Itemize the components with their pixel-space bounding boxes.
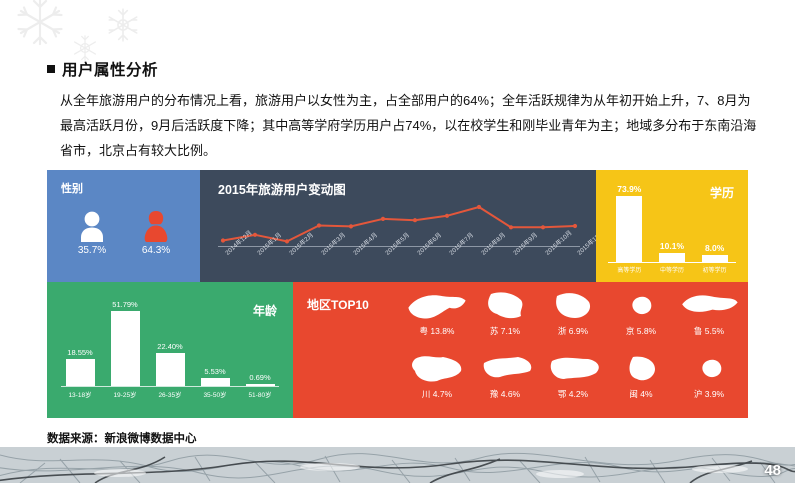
region-item: 川 4.7%: [403, 351, 471, 400]
age-bar-value: 0.69%: [249, 373, 270, 382]
line-chart-tick-labels: 2014年12月2015年1月2015年2月2015年3月2015年4月2015…: [214, 248, 586, 282]
line-chart-point: [541, 225, 545, 229]
gender-icons-group: 35.7% 64.3%: [60, 208, 188, 256]
age-axis: [61, 386, 279, 387]
region-item: 鲁 5.5%: [675, 288, 743, 337]
age-bar-value: 5.53%: [204, 367, 225, 376]
gender-female-value: 64.3%: [142, 245, 170, 256]
gender-male-value: 35.7%: [78, 245, 106, 256]
province-map-icon: [539, 351, 607, 387]
province-map-icon: [675, 351, 743, 387]
age-bar: 51.79%: [106, 294, 144, 386]
education-category-label: 初等学历: [703, 265, 727, 274]
gender-female: 64.3%: [142, 210, 170, 256]
age-category-label: 19-25岁: [106, 389, 144, 399]
line-chart-point: [477, 205, 481, 209]
winter-photo-strip: 48: [0, 447, 795, 483]
education-bar-chart: 73.9%10.1%8.0%: [608, 180, 736, 262]
age-category-labels: 13-18岁19-25岁26-35岁35-50岁51-80岁: [61, 389, 279, 399]
province-map-icon: [539, 288, 607, 324]
education-bar: 73.9%: [616, 180, 642, 262]
page-title-text: 用户属性分析: [62, 58, 158, 80]
line-chart-point: [285, 239, 289, 243]
age-bar-chart: 18.55%51.79%22.40%5.53%0.69%: [61, 294, 279, 386]
age-bar: 18.55%: [61, 294, 99, 386]
region-item-label: 鲁 5.5%: [675, 325, 743, 337]
education-bar-rect: [659, 253, 685, 262]
education-bar-value: 10.1%: [660, 241, 684, 251]
education-bar-value: 73.9%: [617, 184, 641, 194]
age-bar: 5.53%: [196, 294, 234, 386]
education-axis: [608, 262, 736, 263]
line-chart-point: [253, 233, 257, 237]
province-map-icon: [675, 288, 743, 324]
education-bar: 8.0%: [702, 180, 728, 262]
education-bar-rect: [702, 255, 728, 262]
province-map-icon: [403, 288, 471, 324]
age-bar-rect: [156, 353, 185, 386]
infographic-container: 性别 35.7% 64.3% 2015年旅游用户变动图: [47, 170, 748, 418]
age-bar-value: 22.40%: [157, 342, 182, 351]
region-item: 鄂 4.2%: [539, 351, 607, 400]
gender-male: 35.7%: [78, 210, 106, 256]
age-bar-value: 51.79%: [112, 300, 137, 309]
region-item-label: 川 4.7%: [403, 388, 471, 400]
region-item-label: 浙 6.9%: [539, 325, 607, 337]
age-category-label: 26-35岁: [151, 389, 189, 399]
region-item-label: 京 5.8%: [607, 325, 675, 337]
region-panel: 地区TOP10 粤 13.8%苏 7.1%浙 6.9%京 5.8%鲁 5.5%川…: [293, 282, 748, 418]
region-item: 苏 7.1%: [471, 288, 539, 337]
education-bar: 10.1%: [659, 180, 685, 262]
line-chart-panel: 2015年旅游用户变动图 2014年12月2015年1月2015年2月2015年…: [200, 170, 596, 282]
region-item: 沪 3.9%: [675, 351, 743, 400]
age-bar-rect: [201, 378, 230, 386]
line-chart-point: [317, 223, 321, 227]
line-chart-point: [445, 214, 449, 218]
line-chart-title: 2015年旅游用户变动图: [218, 179, 346, 198]
age-category-label: 13-18岁: [61, 389, 99, 399]
education-category-label: 高等学历: [617, 265, 641, 274]
body-paragraph: 从全年旅游用户的分布情况上看，旅游用户以女性为主，占全部用户的64%；全年活跃规…: [60, 88, 760, 163]
region-map-grid: 粤 13.8%苏 7.1%浙 6.9%京 5.8%鲁 5.5%川 4.7%豫 4…: [403, 288, 743, 414]
page-title: 用户属性分析: [47, 58, 158, 80]
education-bar-value: 8.0%: [705, 243, 724, 253]
education-category-label: 中等学历: [660, 265, 684, 274]
age-bar-rect: [111, 311, 140, 386]
province-map-icon: [607, 288, 675, 324]
data-source-note: 数据来源：新浪微博数据中心: [47, 430, 197, 446]
snowy-branches-image: [0, 447, 795, 483]
region-item-label: 粤 13.8%: [403, 325, 471, 337]
province-map-icon: [403, 351, 471, 387]
gender-panel-title: 性别: [61, 180, 83, 196]
region-item: 浙 6.9%: [539, 288, 607, 337]
age-bar: 0.69%: [241, 294, 279, 386]
bullet-square-icon: [47, 65, 55, 73]
line-chart-point: [349, 224, 353, 228]
female-person-icon: [143, 210, 169, 242]
age-category-label: 35-50岁: [196, 389, 234, 399]
region-item-label: 鄂 4.2%: [539, 388, 607, 400]
age-bar: 22.40%: [151, 294, 189, 386]
age-category-label: 51-80岁: [241, 389, 279, 399]
education-panel: 学历 73.9%10.1%8.0% 高等学历中等学历初等学历: [596, 170, 748, 282]
region-item-label: 闽 4%: [607, 388, 675, 400]
region-item-label: 苏 7.1%: [471, 325, 539, 337]
region-panel-title: 地区TOP10: [307, 296, 369, 313]
gender-panel: 性别 35.7% 64.3%: [47, 170, 200, 282]
line-chart-point: [221, 238, 225, 242]
page-number: 48: [764, 462, 781, 479]
education-bar-rect: [616, 196, 642, 263]
education-category-labels: 高等学历中等学历初等学历: [608, 265, 736, 274]
line-chart-point: [509, 225, 513, 229]
region-item: 闽 4%: [607, 351, 675, 400]
region-item: 粤 13.8%: [403, 288, 471, 337]
region-item-label: 豫 4.6%: [471, 388, 539, 400]
province-map-icon: [471, 351, 539, 387]
province-map-icon: [607, 351, 675, 387]
body-paragraph-text: 从全年旅游用户的分布情况上看，旅游用户以女性为主，占全部用户的64%；全年活跃规…: [60, 88, 760, 163]
line-chart-point: [381, 217, 385, 221]
province-map-icon: [471, 288, 539, 324]
region-item: 豫 4.6%: [471, 351, 539, 400]
age-bar-value: 18.55%: [67, 348, 92, 357]
age-panel: 年龄 18.55%51.79%22.40%5.53%0.69% 13-18岁19…: [47, 282, 293, 418]
line-chart-point: [413, 218, 417, 222]
region-item: 京 5.8%: [607, 288, 675, 337]
region-item-label: 沪 3.9%: [675, 388, 743, 400]
line-chart-point: [573, 224, 577, 228]
age-bar-rect: [66, 359, 95, 386]
male-person-icon: [79, 210, 105, 242]
